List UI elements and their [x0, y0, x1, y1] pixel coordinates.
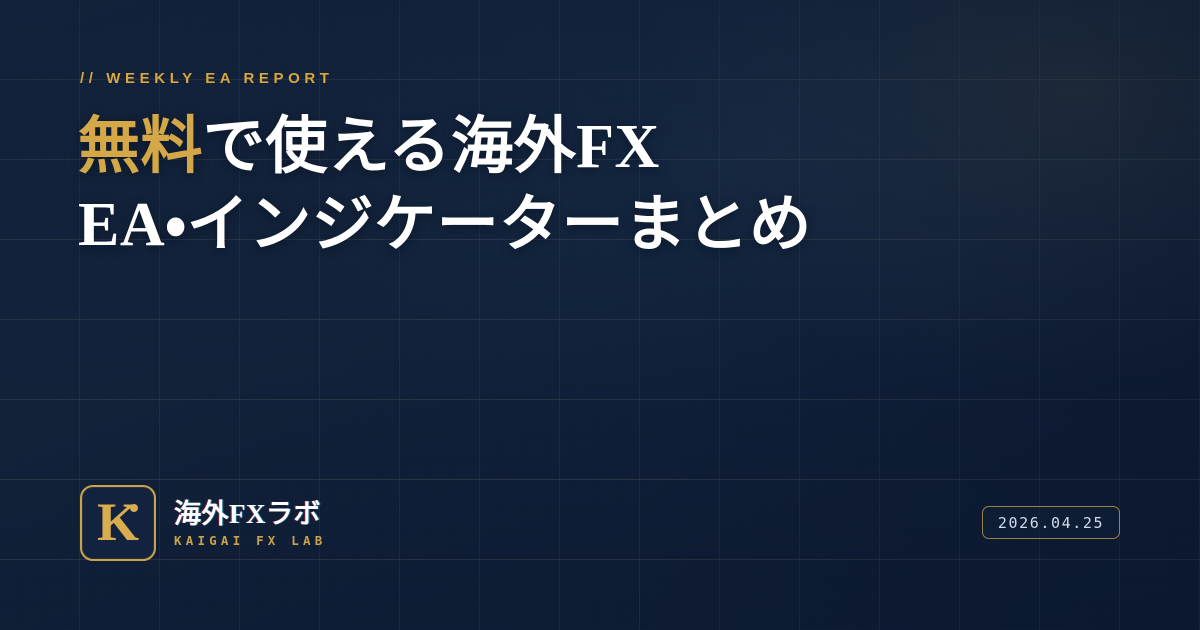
- brand-name-en: KAIGAI FX LAB: [174, 533, 326, 548]
- brand-text: 海外FXラボ KAIGAI FX LAB: [174, 499, 326, 548]
- logo-letter-k: K: [82, 495, 154, 549]
- date-badge: 2026.04.25: [982, 506, 1120, 539]
- logo-mark: K: [80, 485, 156, 561]
- logo-accent-dot-icon: [130, 504, 138, 512]
- brand-name-jp: 海外FXラボ: [174, 499, 326, 530]
- page-title-line-2: EA・インジケーターまとめ: [78, 186, 1078, 264]
- brand-lockup[interactable]: K 海外FXラボ KAIGAI FX LAB: [80, 485, 326, 561]
- page-title: 無料で使える海外FX EA・インジケーターまとめ: [78, 108, 1078, 264]
- eyebrow-label: // WEEKLY EA REPORT: [80, 70, 334, 87]
- card-content: // WEEKLY EA REPORT 無料で使える海外FX EA・インジケータ…: [0, 0, 1200, 630]
- page-title-line-1-rest: で使える海外FX: [203, 113, 660, 181]
- page-title-line-1: 無料で使える海外FX: [78, 108, 1078, 186]
- ogp-card: // WEEKLY EA REPORT 無料で使える海外FX EA・インジケータ…: [0, 0, 1200, 630]
- page-title-highlight: 無料: [78, 113, 203, 181]
